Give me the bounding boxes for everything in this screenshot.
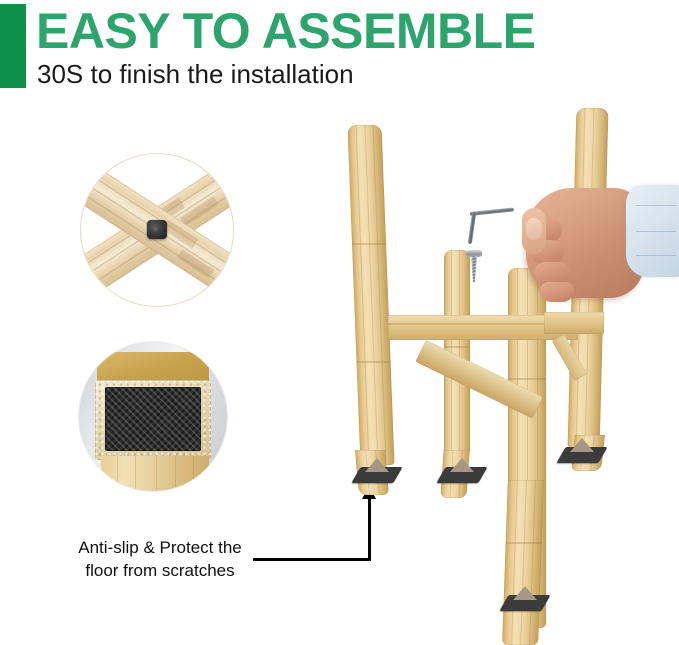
allen-key-short-arm [468,212,476,244]
joint-bolt-icon [147,220,167,239]
inset-cross-joint: Close-up of bamboo cross brace joined wi… [80,153,234,307]
inset-anti-slip-pad-alt: Close-up of bamboo leg bottom fitted wit… [79,342,80,343]
infographic-canvas: EASY TO ASSEMBLE 30S to finish the insta… [0,0,679,613]
caption-line-2: floor from scratches [60,559,260,582]
product-photo-alt: Partially assembled bamboo stool frame h… [330,100,331,101]
caption-line-1: Anti-slip & Protect the [60,536,260,559]
leg-front-lower [502,480,544,645]
anti-slip-caption: Anti-slip & Protect the floor from scrat… [60,536,260,582]
finger-little [540,282,574,302]
leg-end-closeup [95,352,213,488]
page-title: EASY TO ASSEMBLE [36,5,656,57]
anti-slip-pad [105,387,201,451]
header-accent-bar [0,4,26,88]
product-photo: Partially assembled bamboo stool frame h… [330,100,679,613]
inset-cross-joint-alt: Close-up of bamboo cross brace joined wi… [81,154,82,155]
page-subtitle: 30S to finish the installation [37,59,637,89]
rail-right-horizontal [544,312,604,334]
inset-anti-slip-pad: Close-up of bamboo leg bottom fitted wit… [78,341,228,492]
foot-pad-2 [441,458,483,484]
foot-pad-3 [561,438,603,464]
foot-pad-1 [356,458,398,484]
screw-head [466,250,482,257]
leg-back-left [347,125,394,465]
leg-body [101,456,209,492]
finger-ring [534,262,570,284]
allen-key-icon [470,207,514,216]
foot-pad-4 [504,586,546,612]
shirt-sleeve [626,185,679,277]
screw-shaft-icon [471,256,477,282]
thumb-nail [526,218,542,240]
pad-rim [95,380,211,460]
